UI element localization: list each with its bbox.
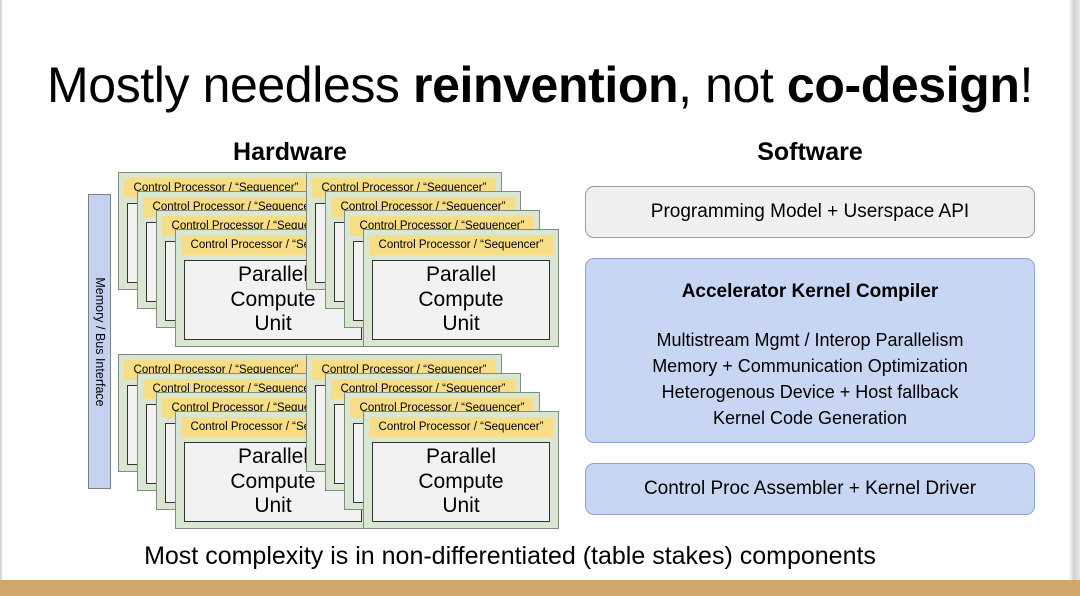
compute-quadrant-bottom-left: Control Processor / “Sequencer”ParallelC… xyxy=(118,354,333,526)
slide-canvas: Mostly needless reinvention, not co-desi… xyxy=(0,0,1080,596)
parallel-compute-unit-label: ParallelComputeUnit xyxy=(418,445,503,519)
kernel-compiler-line-1: Memory + Communication Optimization xyxy=(586,353,1034,379)
hardware-diagram: Memory / Bus Interface Control Processor… xyxy=(78,172,548,537)
software-box-assembler-driver[interactable]: Control Proc Assembler + Kernel Driver xyxy=(585,463,1035,515)
page-title: Mostly needless reinvention, not co-desi… xyxy=(0,60,1080,110)
control-processor-band: Control Processor / “Sequencer” xyxy=(369,235,553,255)
kernel-compiler-title: Accelerator Kernel Compiler xyxy=(586,281,1034,303)
software-box-assembler-driver-label: Control Proc Assembler + Kernel Driver xyxy=(644,478,976,499)
parallel-compute-unit-box: ParallelComputeUnit xyxy=(372,260,550,340)
control-processor-band: Control Processor / “Sequencer” xyxy=(369,417,553,437)
accent-bottom-bar xyxy=(0,580,1080,596)
title-part-3: co-design xyxy=(787,57,1020,113)
parallel-compute-unit-label: ParallelComputeUnit xyxy=(418,263,503,337)
slide-caption: Most complexity is in non-differentiated… xyxy=(0,542,1020,571)
compute-quadrant-top-left: Control Processor / “Sequencer”ParallelC… xyxy=(118,172,333,344)
software-stack: Programming Model + Userspace API Accele… xyxy=(585,186,1035,515)
compute-card: Control Processor / “Sequencer”ParallelC… xyxy=(363,229,559,347)
software-box-kernel-compiler[interactable]: Accelerator Kernel Compiler Multistream … xyxy=(585,258,1035,443)
kernel-compiler-line-0: Multistream Mgmt / Interop Parallelism xyxy=(586,327,1034,353)
memory-bus-interface-label: Memory / Bus Interface xyxy=(93,277,107,406)
compute-card: Control Processor / “Sequencer”ParallelC… xyxy=(363,411,559,529)
memory-bus-interface-bar: Memory / Bus Interface xyxy=(88,194,111,489)
title-part-4: ! xyxy=(1019,57,1033,113)
software-box-programming-model[interactable]: Programming Model + Userspace API xyxy=(585,186,1035,238)
compute-quadrant-top-right: Control Processor / “Sequencer”ParallelC… xyxy=(306,172,521,344)
software-heading: Software xyxy=(585,138,1035,167)
hardware-heading: Hardware xyxy=(100,138,480,167)
parallel-compute-unit-label: ParallelComputeUnit xyxy=(230,263,315,337)
parallel-compute-unit-label: ParallelComputeUnit xyxy=(230,445,315,519)
kernel-compiler-line-3: Kernel Code Generation xyxy=(586,405,1034,431)
title-part-0: Mostly needless xyxy=(47,57,413,113)
compute-quadrant-bottom-right: Control Processor / “Sequencer”ParallelC… xyxy=(306,354,521,526)
title-part-2: , not xyxy=(678,57,787,113)
kernel-compiler-line-2: Heterogenous Device + Host fallback xyxy=(586,379,1034,405)
software-box-programming-model-label: Programming Model + Userspace API xyxy=(651,201,969,222)
parallel-compute-unit-box: ParallelComputeUnit xyxy=(372,442,550,522)
title-part-1: reinvention xyxy=(413,57,678,113)
